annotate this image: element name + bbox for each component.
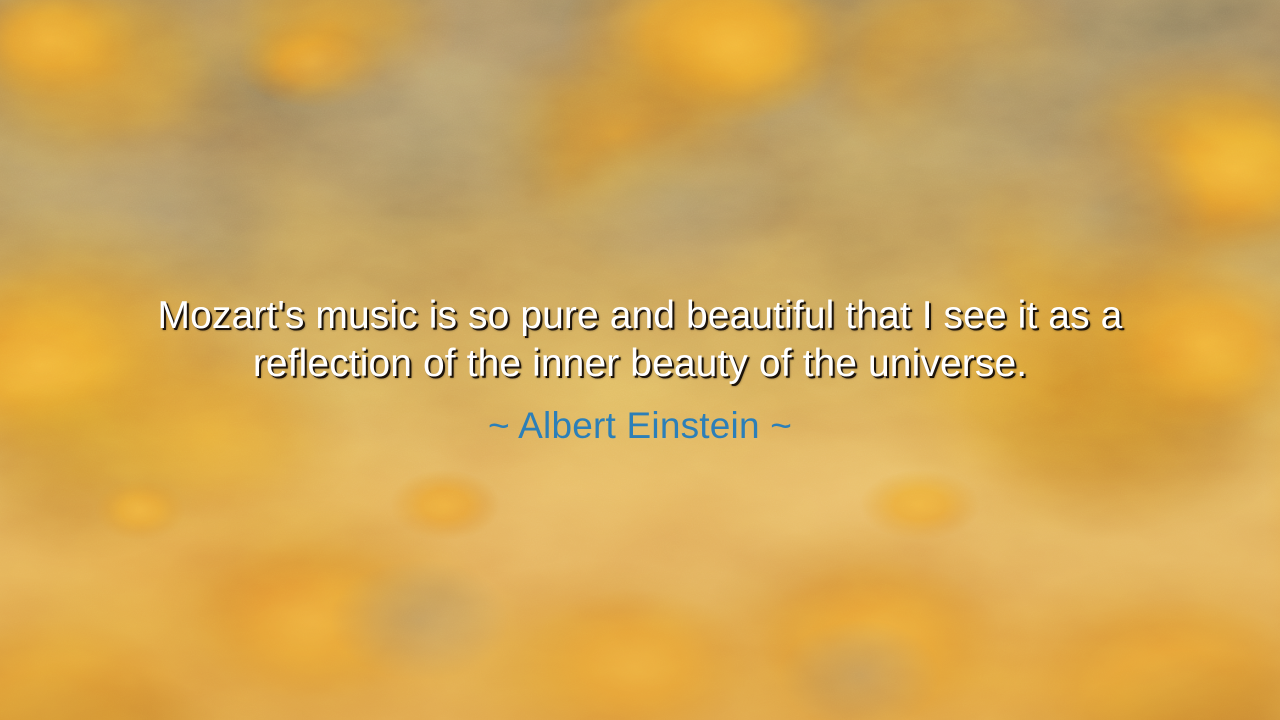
wallpaper-canvas: Mozart's music is so pure and beautiful … [0, 0, 1280, 720]
quote-line-1: Mozart's music is so pure and beautiful … [135, 292, 1145, 340]
quote-line-2: reflection of the inner beauty of the un… [135, 340, 1145, 388]
quote-attribution: ~ Albert Einstein ~ [135, 403, 1145, 449]
quote-block: Mozart's music is so pure and beautiful … [135, 292, 1145, 388]
sky-gap [560, 120, 800, 290]
cloud-puff [390, 470, 500, 540]
sky-gap [330, 560, 510, 680]
cloud-puff [860, 470, 980, 540]
sky-gap [780, 620, 940, 720]
cloud-puff [95, 480, 185, 540]
